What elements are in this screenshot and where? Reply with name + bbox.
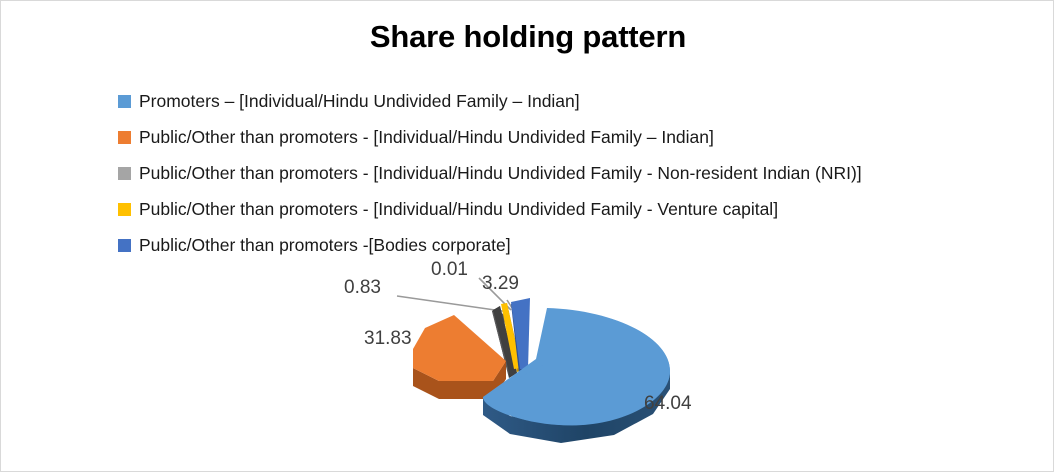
legend-item-public-venture-capital[interactable]: Public/Other than promoters - [Individua…: [118, 191, 1038, 227]
legend-item-label: Public/Other than promoters - [Individua…: [139, 199, 778, 220]
legend-swatch-icon: [118, 203, 131, 216]
data-label-public-bodies: 3.29: [482, 273, 519, 295]
pie-chart-svg: [1, 256, 1054, 472]
chart-title: Share holding pattern: [1, 19, 1054, 55]
data-label-public-individual: 31.83: [364, 328, 412, 350]
legend-item-label: Promoters – [Individual/Hindu Undivided …: [139, 91, 580, 112]
chart-container: Share holding pattern Promoters – [Indiv…: [0, 0, 1054, 472]
legend-swatch-icon: [118, 131, 131, 144]
legend-item-label: Public/Other than promoters - [Individua…: [139, 163, 862, 184]
legend-item-label: Public/Other than promoters - [Individua…: [139, 127, 714, 148]
pie-slice-public-individual-top: [413, 315, 506, 381]
legend-item-public-nri[interactable]: Public/Other than promoters - [Individua…: [118, 155, 1038, 191]
data-label-public-venture: 0.01: [431, 259, 468, 281]
legend-swatch-icon: [118, 239, 131, 252]
legend-swatch-icon: [118, 95, 131, 108]
leader-line-0-83: [397, 296, 509, 312]
data-label-promoters: 64.04: [644, 393, 692, 415]
legend-swatch-icon: [118, 167, 131, 180]
pie-plot-area: 0.83 0.01 3.29 31.83 64.04: [1, 256, 1054, 472]
data-label-public-nri: 0.83: [344, 277, 381, 299]
chart-legend: Promoters – [Individual/Hindu Undivided …: [118, 83, 1038, 263]
legend-item-public-individual-indian[interactable]: Public/Other than promoters - [Individua…: [118, 119, 1038, 155]
legend-item-label: Public/Other than promoters -[Bodies cor…: [139, 235, 511, 256]
legend-item-promoters-indian[interactable]: Promoters – [Individual/Hindu Undivided …: [118, 83, 1038, 119]
